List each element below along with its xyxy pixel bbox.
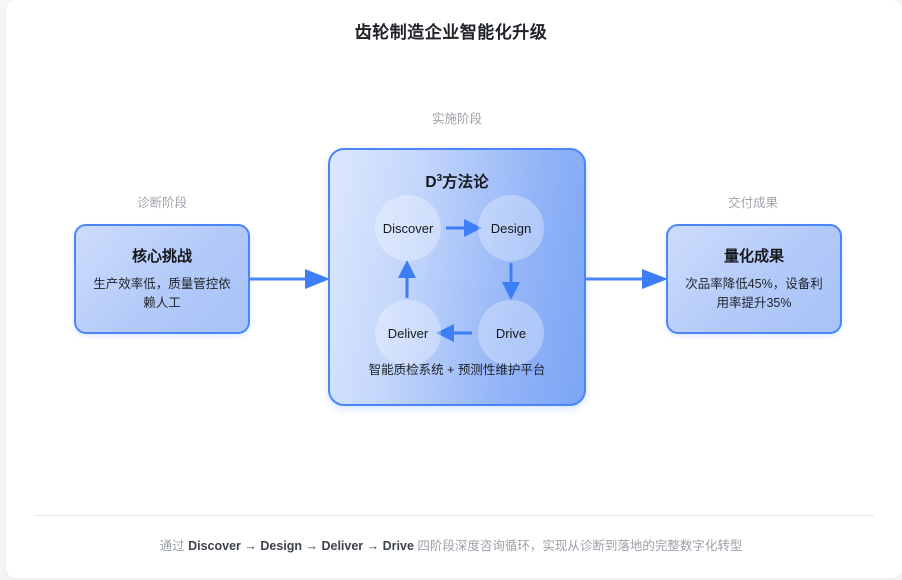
footer-note-prefix: 通过 <box>160 539 188 553</box>
stage-caption-left: 诊断阶段 <box>72 192 252 211</box>
methodology-footer-text: 智能质检系统 + 预测性维护平台 <box>330 359 584 378</box>
arrow-left-icon <box>436 324 472 342</box>
footer-note-flow: Discover → Design → Deliver → Drive <box>188 539 414 553</box>
arrow-up-icon <box>398 260 416 298</box>
arrow-right-icon <box>446 219 482 237</box>
cycle-node-discover-label: Discover <box>383 221 434 236</box>
cycle-node-design-label: Design <box>491 221 531 236</box>
cycle-node-deliver[interactable]: Deliver <box>375 300 441 366</box>
footer-divider <box>34 515 874 516</box>
connector-left-to-center <box>250 262 330 296</box>
diagram-card: 齿轮制造企业智能化升级 诊断阶段 实施阶段 交付成果 核心挑战 生产效率低，质量… <box>6 0 902 578</box>
stage-box-left-title: 核心挑战 <box>132 245 192 266</box>
stage-caption-center: 实施阶段 <box>328 108 586 127</box>
cycle-node-discover[interactable]: Discover <box>375 195 441 261</box>
methodology-box[interactable]: D3方法论 Discover <box>328 148 586 406</box>
cycle-node-drive[interactable]: Drive <box>478 300 544 366</box>
cycle-node-design[interactable]: Design <box>478 195 544 261</box>
page-title: 齿轮制造企业智能化升级 <box>6 18 896 43</box>
footer-note: 通过 Discover → Design → Deliver → Drive 四… <box>6 535 896 554</box>
stage-box-left-description: 生产效率低，质量管控依赖人工 <box>88 275 236 314</box>
cycle-node-deliver-label: Deliver <box>388 326 428 341</box>
stage-box-right-title: 量化成果 <box>724 245 784 266</box>
arrow-down-icon <box>502 263 520 300</box>
cycle-node-drive-label: Drive <box>496 326 526 341</box>
stage-box-diagnosis[interactable]: 核心挑战 生产效率低，质量管控依赖人工 <box>74 224 250 334</box>
stage-box-right-description: 次品率降低45%，设备利用率提升35% <box>680 275 828 314</box>
arrow-right-icon <box>250 262 330 296</box>
footer-note-suffix: 四阶段深度咨询循环，实现从诊断到落地的完整数字化转型 <box>414 539 742 553</box>
stage-box-outcome[interactable]: 量化成果 次品率降低45%，设备利用率提升35% <box>666 224 842 334</box>
arrow-right-icon <box>584 262 668 296</box>
stage-caption-right: 交付成果 <box>662 192 844 211</box>
connector-center-to-right <box>584 262 668 296</box>
